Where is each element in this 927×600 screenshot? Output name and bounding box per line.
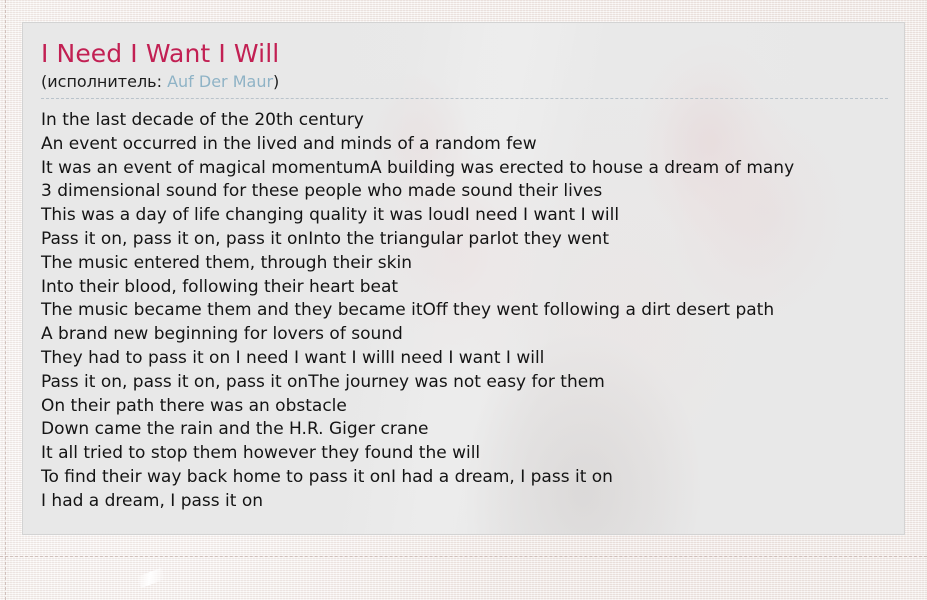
lyric-line: To find their way back home to pass it o… [41,466,904,490]
lyric-line: The music became them and they became it… [41,299,904,323]
lyric-line: A brand new beginning for lovers of soun… [41,323,904,347]
page-dashed-rule-bottom [0,556,927,557]
lyric-line: This was a day of life changing quality … [41,204,904,228]
artist-byline: (исполнитель: Auf Der Maur) [41,71,904,92]
lyric-line: Down came the rain and the H.R. Giger cr… [41,418,904,442]
lyric-line: 3 dimensional sound for these people who… [41,180,904,204]
lyric-line: It all tried to stop them however they f… [41,442,904,466]
song-title: I Need I Want I Will [41,39,904,69]
lyrics-panel: I Need I Want I Will (исполнитель: Auf D… [22,22,905,535]
artist-suffix-label: ) [273,72,279,91]
lyric-line: Into their blood, following their heart … [41,276,904,300]
lyric-line: Pass it on, pass it on, pass it onThe jo… [41,371,904,395]
lyric-line: An event occurred in the lived and minds… [41,133,904,157]
panel-content: I Need I Want I Will (исполнитель: Auf D… [23,23,904,514]
lyric-line: In the last decade of the 20th century [41,109,904,133]
artist-link[interactable]: Auf Der Maur [167,72,273,91]
lyric-line: It was an event of magical momentumA bui… [41,157,904,181]
lyric-line: The music entered them, through their sk… [41,252,904,276]
lyric-line: Pass it on, pass it on, pass it onInto t… [41,228,904,252]
lyric-line: I had a dream, I pass it on [41,490,904,514]
page-dashed-rule-left [5,0,6,600]
artist-prefix-label: (исполнитель: [41,72,167,91]
lyric-line: They had to pass it on I need I want I w… [41,347,904,371]
lyric-line: On their path there was an obstacle [41,395,904,419]
lyrics-body: In the last decade of the 20th centuryAn… [41,99,904,514]
